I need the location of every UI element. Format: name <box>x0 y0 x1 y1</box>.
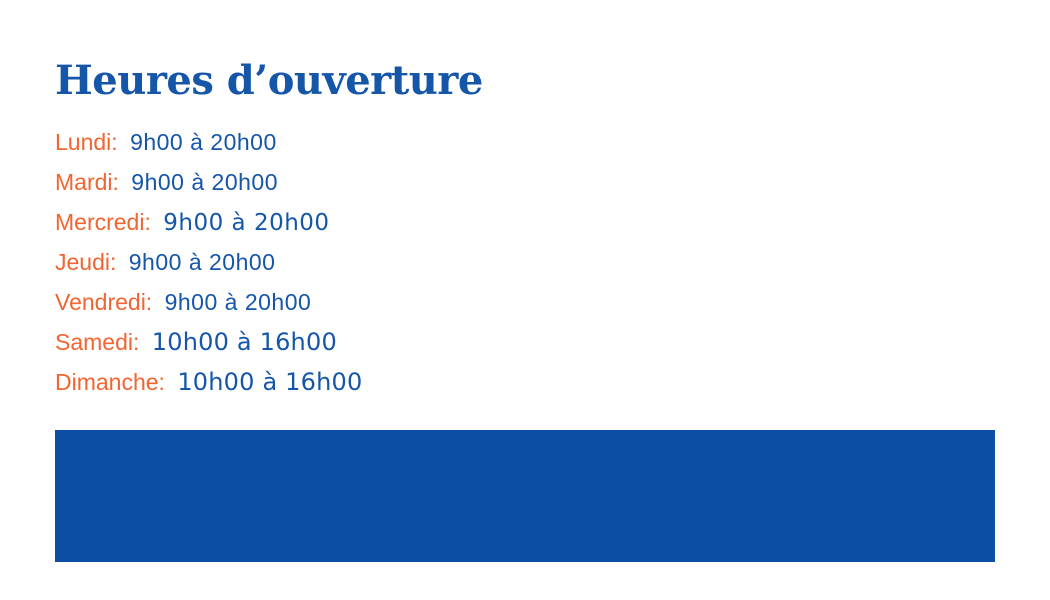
list-item: Mardi: 9h00 à 20h00 <box>55 162 995 202</box>
day-label: Mardi: <box>55 169 119 195</box>
time-value: 10h00 à 16h00 <box>177 368 362 396</box>
banner-block <box>55 430 995 562</box>
day-label: Mercredi: <box>55 209 151 235</box>
list-item: Dimanche: 10h00 à 16h00 <box>55 362 995 402</box>
time-value: 9h00 à 20h00 <box>131 169 278 195</box>
time-value: 9h00 à 20h00 <box>163 210 329 236</box>
day-label: Dimanche: <box>55 369 165 395</box>
time-value: 9h00 à 20h00 <box>165 289 312 315</box>
time-value: 10h00 à 16h00 <box>152 328 337 356</box>
page-title: Heures d’ouverture <box>55 56 995 106</box>
list-item: Mercredi: 9h00 à 20h00 <box>55 202 995 242</box>
list-item: Jeudi: 9h00 à 20h00 <box>55 242 995 282</box>
time-value: 9h00 à 20h00 <box>130 129 277 155</box>
day-label: Samedi: <box>55 329 139 355</box>
slide-root: Heures d’ouverture Lundi: 9h00 à 20h00 M… <box>0 0 1050 600</box>
day-label: Jeudi: <box>55 249 116 275</box>
time-value: 9h00 à 20h00 <box>129 249 276 275</box>
content-area: Heures d’ouverture Lundi: 9h00 à 20h00 M… <box>55 56 995 402</box>
day-label: Vendredi: <box>55 289 152 315</box>
list-item: Samedi: 10h00 à 16h00 <box>55 322 995 362</box>
opening-hours-list: Lundi: 9h00 à 20h00 Mardi: 9h00 à 20h00 … <box>55 122 995 402</box>
day-label: Lundi: <box>55 129 118 155</box>
list-item: Lundi: 9h00 à 20h00 <box>55 122 995 162</box>
list-item: Vendredi: 9h00 à 20h00 <box>55 282 995 322</box>
